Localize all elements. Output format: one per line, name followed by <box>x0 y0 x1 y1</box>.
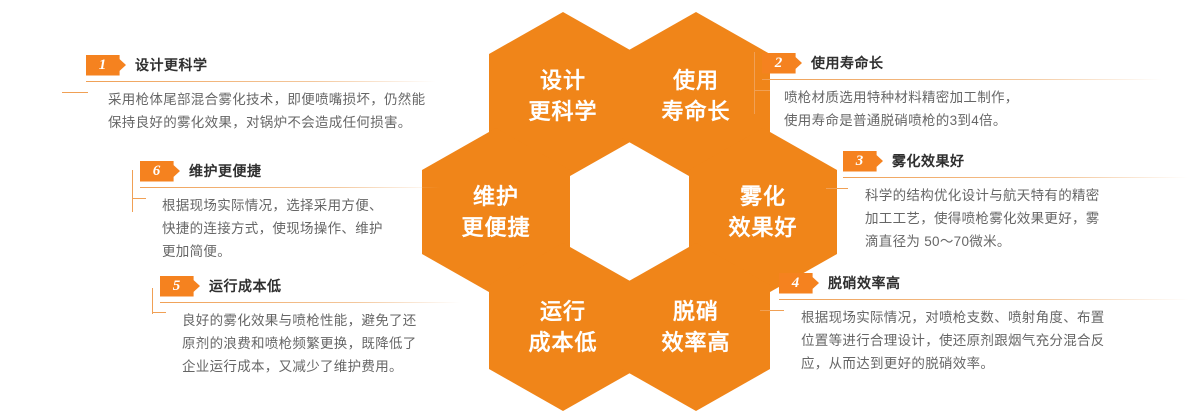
feature-1-line-1: 采用枪体尾部混合雾化技术，即便喷嘴损坏，仍然能 <box>108 88 436 111</box>
feature-6-body: 根据现场实际情况，选择采用方便、 快捷的连接方式，使现场操作、维护 更加简便。 <box>140 194 440 264</box>
feature-3-line-3: 滴直径为 50～70微米。 <box>865 230 1188 253</box>
hex-maintenance-line1: 维护 <box>473 181 519 212</box>
feature-block-6: 6 维护更便捷 根据现场实际情况，选择采用方便、 快捷的连接方式，使现场操作、维… <box>140 160 440 264</box>
feature-block-4: 4 脱硝效率高 根据现场实际情况，对喷枪支数、喷射角度、布置 位置等进行合理设计… <box>779 272 1189 376</box>
feature-1-divider <box>86 81 436 82</box>
feature-3-number-badge: 3 <box>843 151 883 172</box>
connector-stub-5-vertical <box>152 288 153 314</box>
feature-2-divider <box>762 79 1162 80</box>
feature-5-divider <box>160 302 460 303</box>
feature-6-line-3: 更加简便。 <box>162 240 440 263</box>
hex-design-line1: 设计 <box>540 65 586 96</box>
feature-4-body: 根据现场实际情况，对喷枪支数、喷射角度、布置 位置等进行合理设计，使还原剂跟烟气… <box>779 306 1189 376</box>
feature-2-line-2: 使用寿命是普通脱硝喷枪的3到4倍。 <box>784 109 1162 132</box>
feature-1-body: 采用枪体尾部混合雾化技术，即便喷嘴损坏，仍然能 保持良好的雾化效果，对锅炉不会造… <box>86 88 436 134</box>
feature-block-5: 5 运行成本低 良好的雾化效果与喷枪性能，避免了还 原剂的浪费和喷枪频繁更换，既… <box>160 275 460 379</box>
hex-atomization-line2: 效果好 <box>728 212 797 243</box>
feature-4-line-2: 位置等进行合理设计，使还原剂跟烟气充分混合反 <box>801 329 1189 352</box>
feature-5-number-badge: 5 <box>160 276 200 297</box>
feature-3-title: 雾化效果好 <box>892 151 965 171</box>
feature-4-title: 脱硝效率高 <box>828 273 901 293</box>
feature-5-body: 良好的雾化效果与喷枪性能，避免了还 原剂的浪费和喷枪频繁更换，既降低了 企业运行… <box>160 309 460 379</box>
feature-4-number-badge: 4 <box>779 273 819 294</box>
feature-block-3: 3 雾化效果好 科学的结构优化设计与航天特有的精密 加工工艺，使得喷枪雾化效果更… <box>843 150 1188 254</box>
feature-2-line-1: 喷枪材质选用特种材料精密加工制作， <box>784 86 1162 109</box>
feature-5-line-3: 企业运行成本，又减少了维护费用。 <box>182 355 460 378</box>
feature-4-divider <box>779 299 1189 300</box>
feature-4-line-1: 根据现场实际情况，对喷枪支数、喷射角度、布置 <box>801 306 1189 329</box>
feature-6-head: 6 维护更便捷 <box>140 160 440 182</box>
feature-2-body: 喷枪材质选用特种材料精密加工制作， 使用寿命是普通脱硝喷枪的3到4倍。 <box>762 86 1162 132</box>
feature-1-number-badge: 1 <box>86 55 126 76</box>
connector-stub-6-vertical <box>132 170 133 212</box>
feature-4-line-3: 应，从而达到更好的脱硝效率。 <box>801 352 1189 375</box>
feature-1-title: 设计更科学 <box>135 55 208 75</box>
feature-3-divider <box>843 177 1188 178</box>
connector-stub-1 <box>62 92 88 93</box>
feature-2-number-badge: 2 <box>762 53 802 74</box>
feature-3-line-1: 科学的结构优化设计与航天特有的精密 <box>865 184 1188 207</box>
hex-lifespan-line1: 使用 <box>673 65 719 96</box>
feature-5-line-2: 原剂的浪费和喷枪频繁更换，既降低了 <box>182 332 460 355</box>
feature-6-line-2: 快捷的连接方式，使现场操作、维护 <box>162 217 440 240</box>
feature-6-line-1: 根据现场实际情况，选择采用方便、 <box>162 194 440 217</box>
hex-atomization-line1: 雾化 <box>740 181 786 212</box>
feature-4-head: 4 脱硝效率高 <box>779 272 1189 294</box>
feature-block-2: 2 使用寿命长 喷枪材质选用特种材料精密加工制作， 使用寿命是普通脱硝喷枪的3到… <box>762 52 1162 132</box>
infographic-canvas: 设计 更科学 使用 寿命长 维护 更便捷 雾化 效果好 运行 成本低 脱硝 效率… <box>0 0 1197 413</box>
hex-design-line2: 更科学 <box>528 96 597 127</box>
connector-stub-2-vertical <box>754 52 755 114</box>
feature-2-head: 2 使用寿命长 <box>762 52 1162 74</box>
feature-3-body: 科学的结构优化设计与航天特有的精密 加工工艺，使得喷枪雾化效果更好，雾 滴直径为… <box>843 184 1188 254</box>
hex-denitration-line2: 效率高 <box>661 327 730 358</box>
feature-6-divider <box>140 187 440 188</box>
feature-6-title: 维护更便捷 <box>189 161 262 181</box>
feature-1-line-2: 保持良好的雾化效果，对锅炉不会造成任何损害。 <box>108 111 436 134</box>
feature-3-line-2: 加工工艺，使得喷枪雾化效果更好，雾 <box>865 207 1188 230</box>
hex-denitration-line1: 脱硝 <box>673 296 719 327</box>
hex-lifespan-line2: 寿命长 <box>661 96 730 127</box>
feature-5-line-1: 良好的雾化效果与喷枪性能，避免了还 <box>182 309 460 332</box>
feature-6-number-badge: 6 <box>140 161 180 182</box>
feature-3-head: 3 雾化效果好 <box>843 150 1188 172</box>
feature-2-title: 使用寿命长 <box>811 53 884 73</box>
feature-5-head: 5 运行成本低 <box>160 275 460 297</box>
hex-cost-line2: 成本低 <box>528 327 597 358</box>
feature-block-1: 1 设计更科学 采用枪体尾部混合雾化技术，即便喷嘴损坏，仍然能 保持良好的雾化效… <box>86 54 436 134</box>
hex-maintenance-line2: 更便捷 <box>461 212 530 243</box>
hex-cost-line1: 运行 <box>540 296 586 327</box>
feature-1-head: 1 设计更科学 <box>86 54 436 76</box>
feature-5-title: 运行成本低 <box>209 276 282 296</box>
